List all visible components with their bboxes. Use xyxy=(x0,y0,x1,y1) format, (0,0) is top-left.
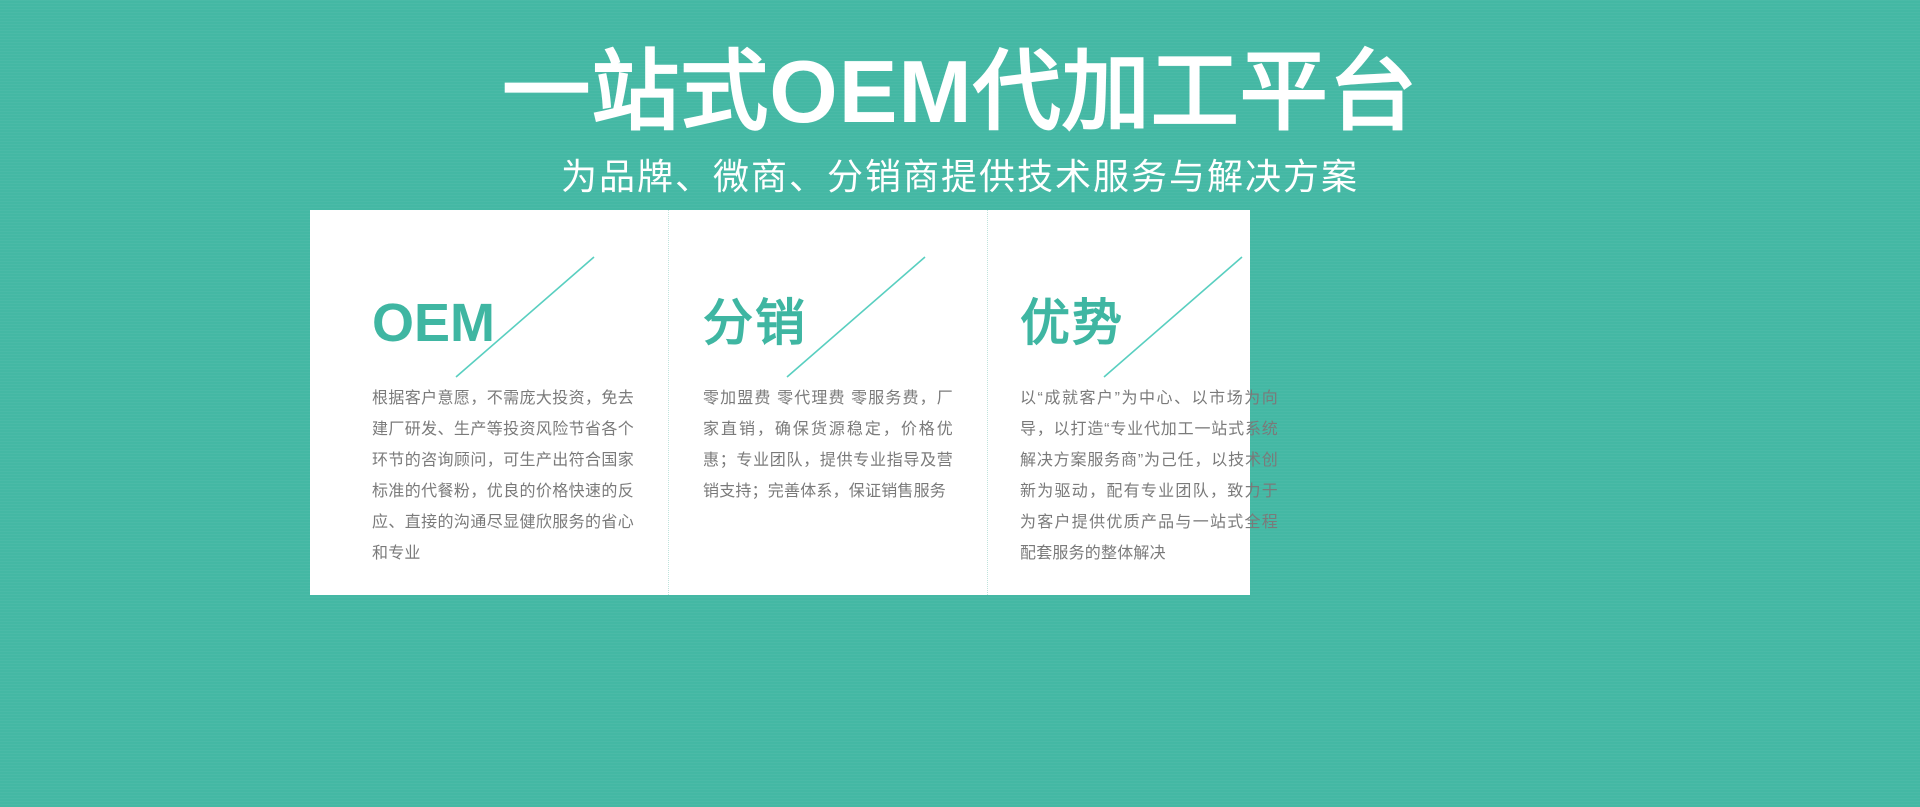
banner-title: 一站式OEM代加工平台 xyxy=(0,40,1920,144)
feature-column-advantage-body: 以“成就客户”为中心、以市场为向导，以打造“专业代加工一站式系统解决方案服务商”… xyxy=(1020,383,1278,569)
feature-column-advantage-title: 优势 xyxy=(1020,293,1124,353)
banner-heading-block: 一站式OEM代加工平台 为品牌、微商、分销商提供技术服务与解决方案 xyxy=(0,40,1920,200)
feature-column-oem-header: OEM xyxy=(372,265,634,361)
feature-column-distribution-header: 分销 xyxy=(703,265,953,361)
feature-column-oem-title: OEM xyxy=(372,293,495,353)
feature-column-advantage-header: 优势 xyxy=(1020,265,1278,361)
banner-subtitle: 为品牌、微商、分销商提供技术服务与解决方案 xyxy=(0,154,1920,200)
feature-card: OEM 根据客户意愿，不需庞大投资，免去建厂研发、生产等投资风险节省各个环节的咨… xyxy=(310,210,1250,595)
banner-content: 一站式OEM代加工平台 为品牌、微商、分销商提供技术服务与解决方案 OEM 根据… xyxy=(0,0,1920,807)
feature-column-distribution-title: 分销 xyxy=(703,293,807,353)
feature-column-oem-body: 根据客户意愿，不需庞大投资，免去建厂研发、生产等投资风险节省各个环节的咨询顾问，… xyxy=(372,383,634,569)
feature-column-distribution: 分销 零加盟费 零代理费 零服务费，厂家直销，确保货源稳定，价格优惠；专业团队，… xyxy=(668,210,987,595)
promo-banner: 一站式OEM代加工平台 为品牌、微商、分销商提供技术服务与解决方案 OEM 根据… xyxy=(0,0,1920,807)
feature-column-oem: OEM 根据客户意愿，不需庞大投资，免去建厂研发、生产等投资风险节省各个环节的咨… xyxy=(310,210,668,595)
feature-column-advantage: 优势 以“成就客户”为中心、以市场为向导，以打造“专业代加工一站式系统解决方案服… xyxy=(987,210,1318,595)
feature-column-distribution-body: 零加盟费 零代理费 零服务费，厂家直销，确保货源稳定，价格优惠；专业团队，提供专… xyxy=(703,383,953,507)
